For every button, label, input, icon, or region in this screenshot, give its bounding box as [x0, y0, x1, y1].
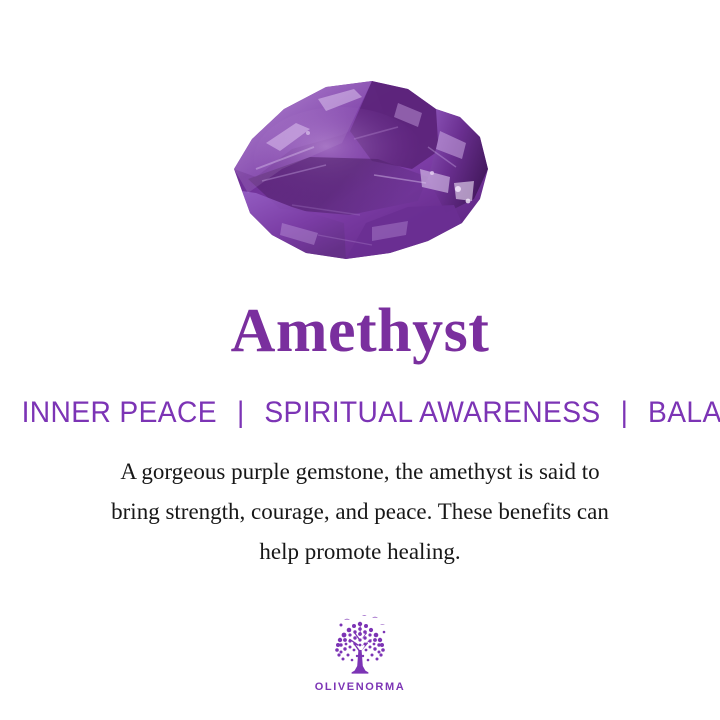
keyword-separator: | [225, 396, 257, 430]
description-line: help promote healing. [50, 532, 670, 572]
keyword-spiritual-awareness: SPIRITUAL AWARENESS [264, 396, 600, 429]
keyword-balance: BALANCE [648, 396, 720, 429]
amethyst-info-card: Amethyst INNER PEACE | SPIRITUAL AWARENE… [0, 0, 720, 720]
tree-icon [324, 612, 396, 678]
gemstone-image [222, 73, 498, 269]
description-text: A gorgeous purple gemstone, the amethyst… [50, 452, 670, 572]
keyword-inner-peace: INNER PEACE [22, 396, 217, 429]
keyword-list: INNER PEACE | SPIRITUAL AWARENESS | BALA… [22, 396, 699, 430]
description-line: A gorgeous purple gemstone, the amethyst… [50, 452, 670, 492]
amethyst-crystal-illustration [222, 73, 498, 269]
page-title: Amethyst [0, 296, 720, 366]
gemstone-image-container [0, 66, 720, 276]
keyword-separator: | [608, 396, 640, 430]
description-line: bring strength, courage, and peace. Thes… [50, 492, 670, 532]
brand-logo: OLIVENORMA [0, 612, 720, 693]
logo-wordmark: OLIVENORMA [315, 681, 406, 693]
